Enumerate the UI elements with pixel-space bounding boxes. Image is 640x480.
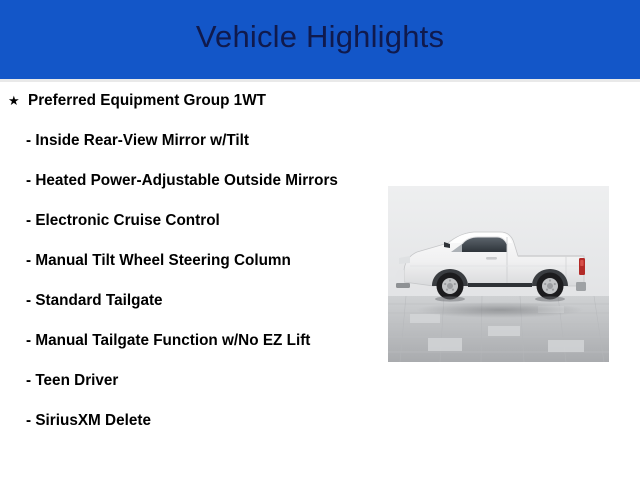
list-item-label: - Manual Tilt Wheel Steering Column — [26, 252, 291, 269]
vehicle-photo-image — [388, 186, 609, 362]
list-item-label: - Inside Rear-View Mirror w/Tilt — [26, 132, 249, 149]
list-item: - Manual Tilt Wheel Steering Column — [0, 251, 372, 270]
list-item: - Electronic Cruise Control — [0, 211, 372, 230]
list-item: - Inside Rear-View Mirror w/Tilt — [0, 131, 372, 150]
list-item-label: - Electronic Cruise Control — [26, 212, 220, 229]
list-item: - Manual Tailgate Function w/No EZ Lift — [0, 331, 372, 350]
vehicle-photo — [388, 186, 609, 362]
list-item: - Heated Power-Adjustable Outside Mirror… — [0, 171, 372, 190]
star-bullet-icon: ★ — [8, 91, 20, 110]
list-item-label: Preferred Equipment Group 1WT — [28, 92, 266, 109]
list-item: - Standard Tailgate — [0, 291, 372, 310]
list-item-label: - Standard Tailgate — [26, 292, 163, 309]
list-item: - SiriusXM Delete — [0, 411, 372, 430]
list-item: - Teen Driver — [0, 371, 372, 390]
vehicle-highlights-list: ★ Preferred Equipment Group 1WT - Inside… — [0, 82, 372, 430]
list-item-label: - Heated Power-Adjustable Outside Mirror… — [26, 172, 338, 189]
page-title: Vehicle Highlights — [0, 0, 640, 74]
page-header-band: Vehicle Highlights — [0, 0, 640, 79]
list-item: ★ Preferred Equipment Group 1WT — [0, 91, 372, 110]
list-item-label: - Teen Driver — [26, 372, 118, 389]
list-item-label: - Manual Tailgate Function w/No EZ Lift — [26, 332, 310, 349]
list-item-label: - SiriusXM Delete — [26, 412, 151, 429]
content-area: ★ Preferred Equipment Group 1WT - Inside… — [0, 82, 640, 480]
